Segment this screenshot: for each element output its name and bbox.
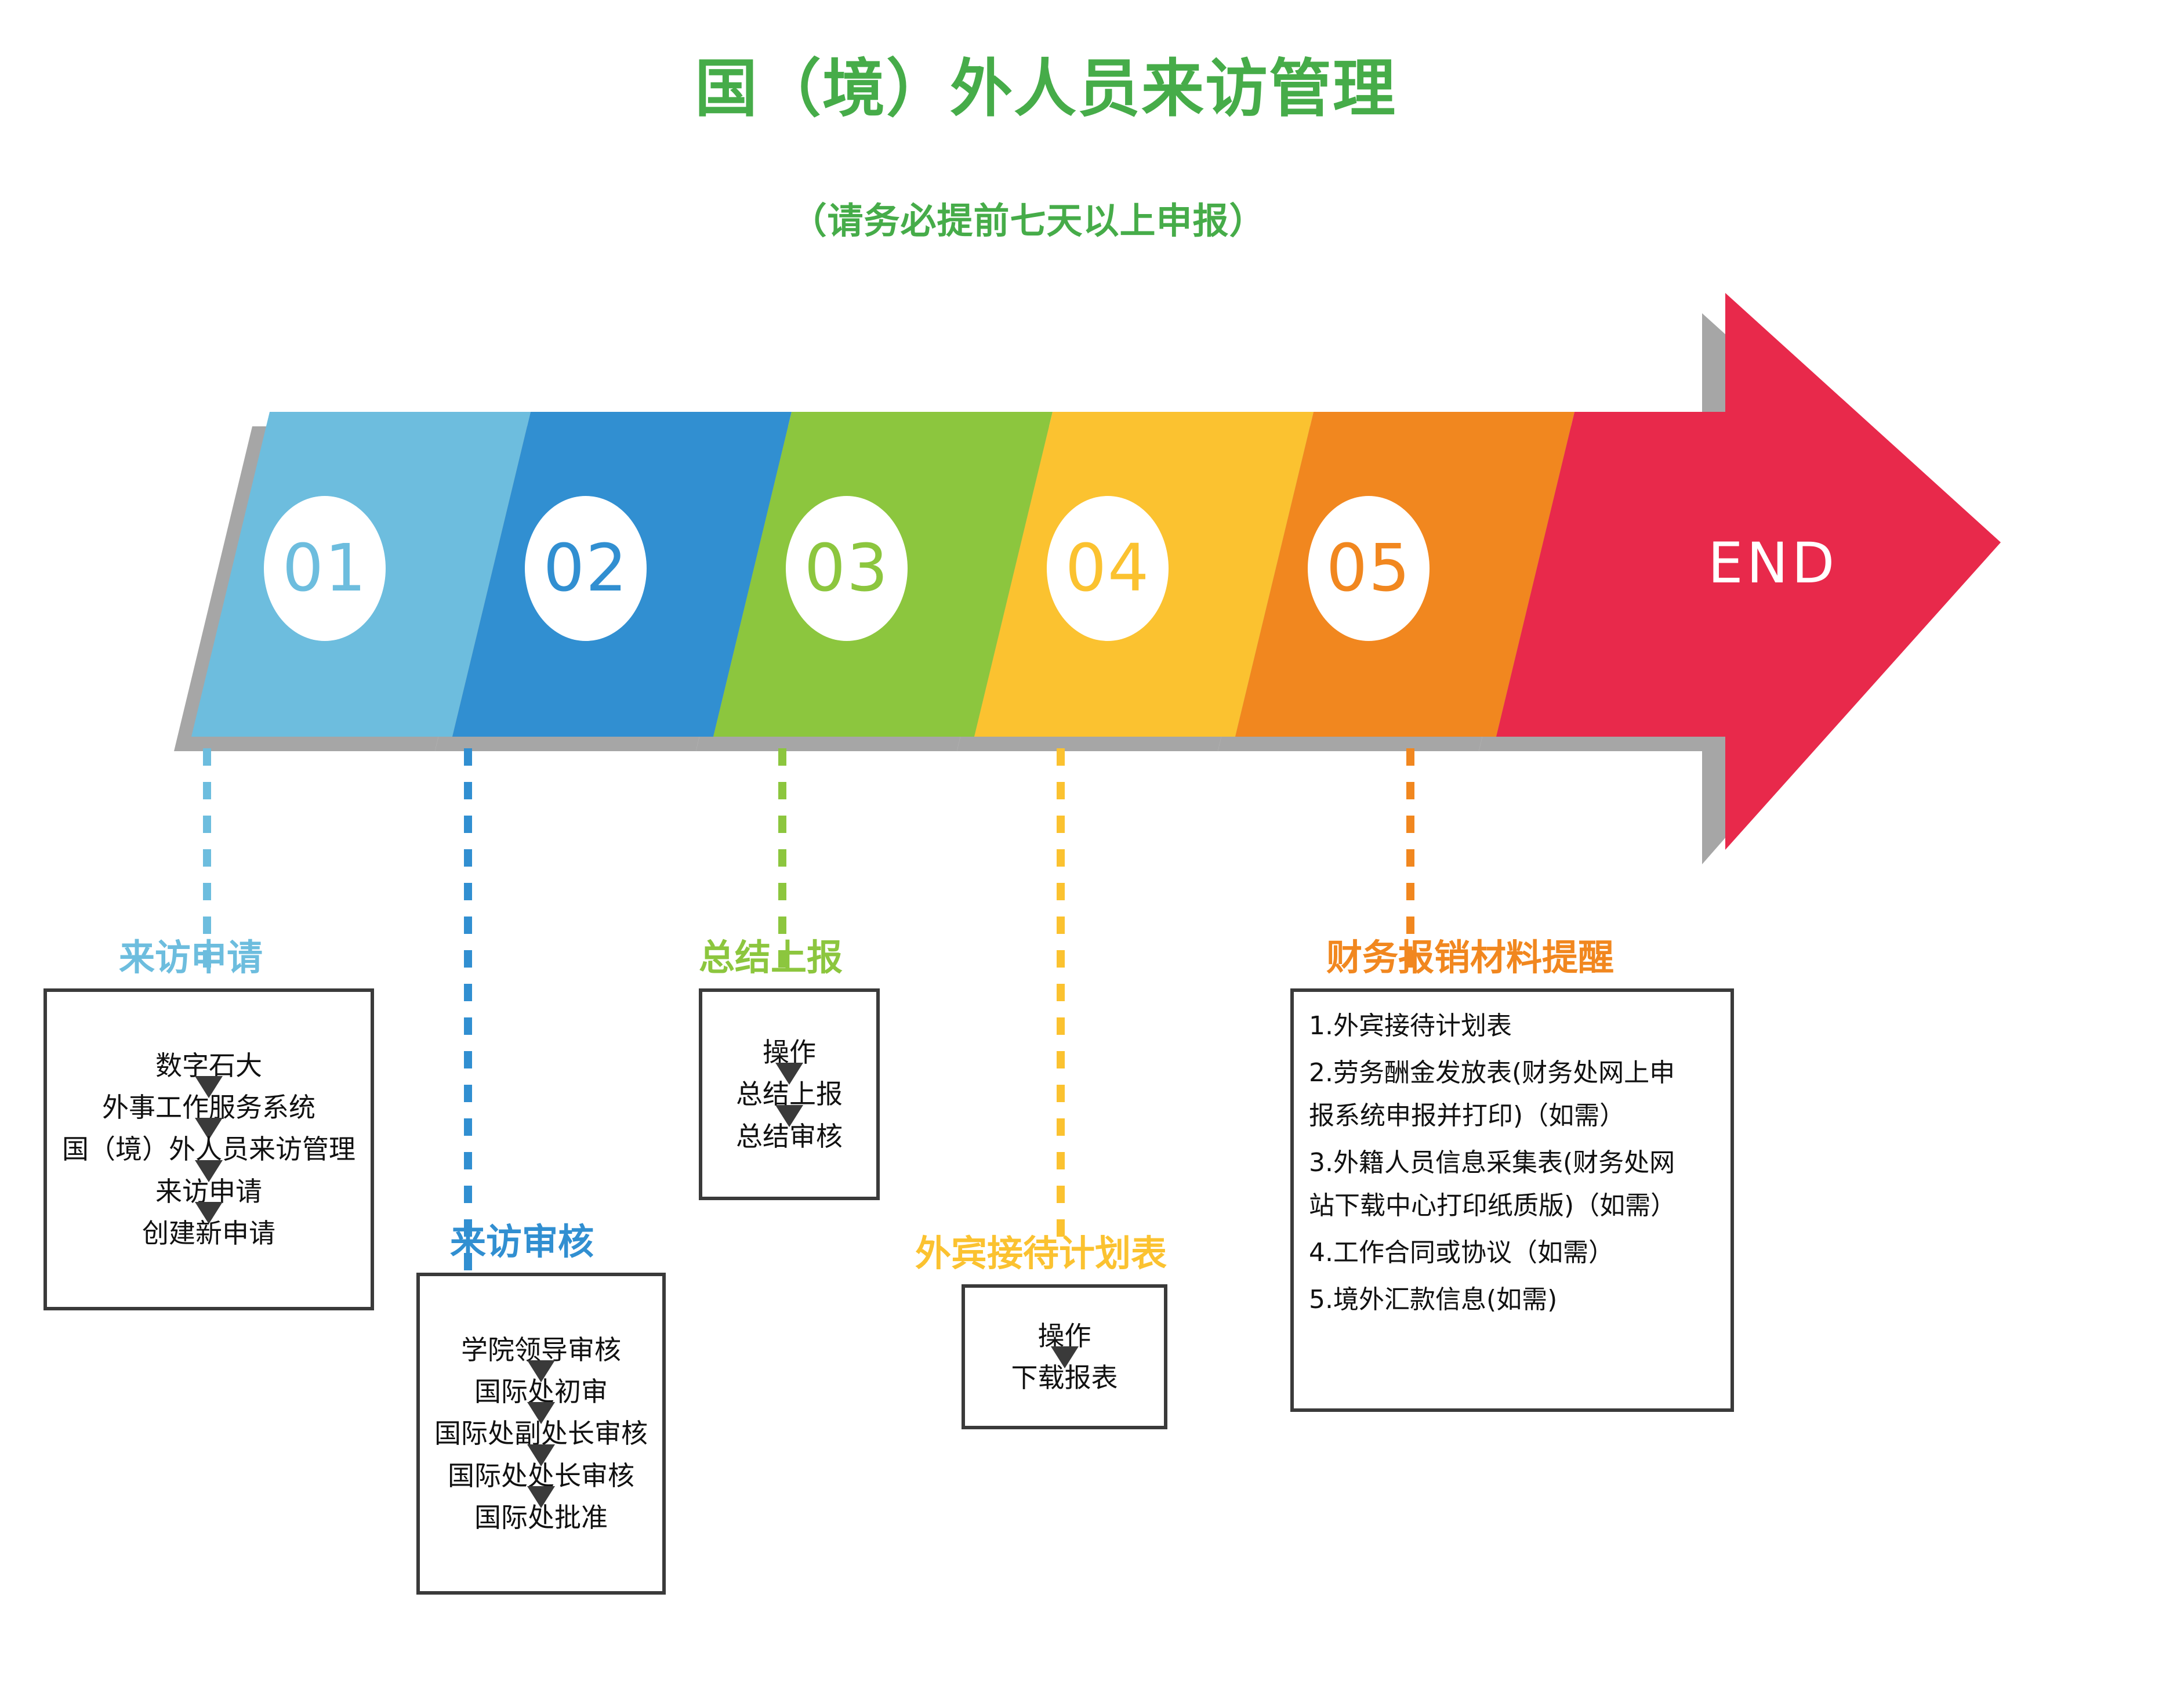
flow-step: 国际处副处长审核: [434, 1419, 648, 1447]
callout-5: 财务报销材料提醒 1.外宾接待计划表 2.劳务酬金发放表(财务处网上申 报系统申…: [1290, 940, 1734, 1412]
infographic-canvas: 国（境）外人员来访管理 （请务必提前七天以上申报）: [0, 0, 2184, 1688]
callout-2: 来访审核 学院领导审核 国际处初审 国际处副处长审核 国际处处长审核 国际处批准: [416, 1224, 666, 1595]
flow-step: 创建新申请: [142, 1219, 275, 1247]
callout-3-box: 操作 总结上报 总结审核: [699, 988, 880, 1200]
list-item: 5.境外汇款信息(如需): [1309, 1285, 1715, 1315]
flow-step: 国际处批准: [474, 1504, 608, 1531]
list-item: 3.外籍人员信息采集表(财务处网: [1309, 1149, 1715, 1178]
callout-2-title: 来访审核: [450, 1224, 666, 1260]
callout-4-box: 操作 下载报表: [962, 1284, 1167, 1429]
flow-step: 来访申请: [155, 1178, 262, 1205]
callout-4: 外宾接待计划表 操作 下载报表: [915, 1236, 1167, 1429]
step-number-2: 02: [516, 531, 655, 606]
callout-1: 来访申请 数字石大 外事工作服务系统 国（境）外人员来访管理 来访申请 创建新申…: [43, 940, 374, 1310]
flow-step: 数字石大: [155, 1052, 262, 1080]
flow-step: 操作: [763, 1038, 816, 1066]
callout-5-box: 1.外宾接待计划表 2.劳务酬金发放表(财务处网上申 报系统申报并打印)（如需）…: [1290, 988, 1734, 1412]
flow-step: 总结审核: [736, 1122, 843, 1150]
step-number-5: 05: [1299, 531, 1438, 606]
end-label: END: [1708, 531, 1838, 596]
callout-4-title: 外宾接待计划表: [915, 1236, 1167, 1272]
flow-step: 学院领导审核: [461, 1336, 621, 1364]
flow-step: 国际处初审: [474, 1378, 608, 1406]
callout-3-title: 总结上报: [699, 940, 880, 976]
list-item: 站下载中心打印纸质版)（如需）: [1309, 1191, 1715, 1221]
callout-2-box: 学院领导审核 国际处初审 国际处副处长审核 国际处处长审核 国际处批准: [416, 1273, 666, 1595]
callout-1-box: 数字石大 外事工作服务系统 国（境）外人员来访管理 来访申请 创建新申请: [43, 988, 374, 1310]
callout-1-title: 来访申请: [119, 940, 374, 976]
list-item: 1.外宾接待计划表: [1309, 1012, 1715, 1041]
callout-5-title: 财务报销材料提醒: [1326, 940, 1734, 976]
connector-dash-2: [464, 748, 472, 1270]
process-bar: 01 02 03 04 05 END: [0, 0, 2184, 928]
step-number-3: 03: [777, 531, 916, 606]
flow-step: 操作: [1038, 1322, 1091, 1350]
process-bar-graphics: [0, 0, 2184, 928]
list-item: 4.工作合同或协议（如需）: [1309, 1238, 1715, 1268]
list-item: 2.劳务酬金发放表(财务处网上申: [1309, 1059, 1715, 1088]
list-item: 报系统申报并打印)（如需）: [1309, 1102, 1715, 1131]
step-number-1: 01: [255, 531, 394, 606]
flow-step: 国际处处长审核: [448, 1462, 634, 1490]
callout-3: 总结上报 操作 总结上报 总结审核: [699, 940, 880, 1200]
flow-step: 国（境）外人员来访管理: [62, 1135, 355, 1163]
flow-step: 下载报表: [1011, 1364, 1118, 1392]
step-number-4: 04: [1038, 531, 1177, 606]
connector-dash-4: [1057, 748, 1065, 1247]
flow-step: 外事工作服务系统: [102, 1093, 315, 1121]
flow-step: 总结上报: [736, 1080, 843, 1108]
